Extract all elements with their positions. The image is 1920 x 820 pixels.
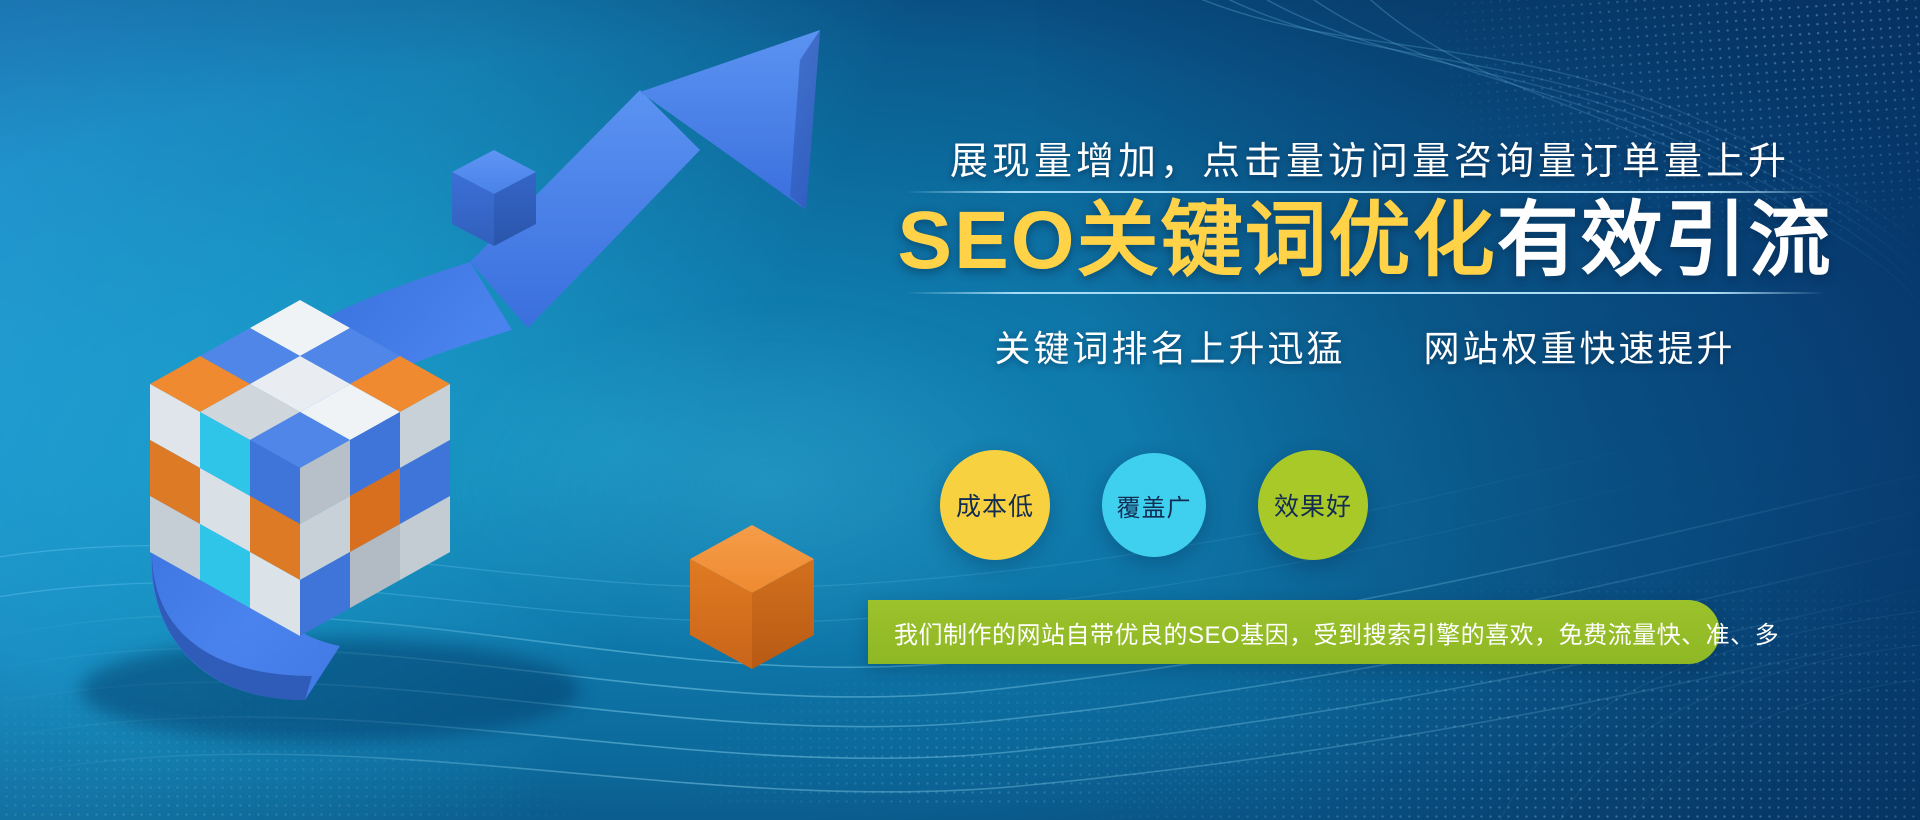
badge-effect-good[interactable]: 效果好 bbox=[1258, 450, 1368, 560]
badge-label: 效果好 bbox=[1274, 487, 1352, 523]
badge-label: 覆盖广 bbox=[1117, 488, 1192, 523]
badge-label: 成本低 bbox=[956, 487, 1034, 523]
banner-copy: 展现量增加，点击量访问量咨询量订单量上升 SEO关键词优化有效引流 关键词排名上… bbox=[860, 130, 1870, 730]
ribbon-container: 我们制作的网站自带优良的SEO基因，受到搜索引擎的喜欢，免费流量快、准、多 bbox=[790, 600, 1800, 664]
badge-coverage-wide[interactable]: 覆盖广 bbox=[1102, 453, 1206, 557]
subline-left: 关键词排名上升迅猛 bbox=[994, 328, 1345, 369]
divider-rule bbox=[905, 191, 1825, 193]
seo-promo-banner: 展现量增加，点击量访问量咨询量订单量上升 SEO关键词优化有效引流 关键词排名上… bbox=[0, 0, 1920, 820]
headline-rest: 有效引流 bbox=[1497, 195, 1833, 286]
green-ribbon-banner: 我们制作的网站自带优良的SEO基因，受到搜索引擎的喜欢，免费流量快、准、多 bbox=[868, 600, 1720, 664]
banner-subline: 关键词排名上升迅猛 网站权重快速提升 bbox=[860, 320, 1870, 372]
headline-highlight: SEO关键词优化 bbox=[897, 195, 1496, 286]
banner-tagline: 展现量增加，点击量访问量咨询量订单量上升 bbox=[860, 130, 1870, 185]
feature-badges: 成本低 覆盖广 效果好 bbox=[940, 440, 1580, 570]
ribbon-text: 我们制作的网站自带优良的SEO基因，受到搜索引擎的喜欢，免费流量快、准、多 bbox=[868, 615, 1779, 650]
badge-cost-low[interactable]: 成本低 bbox=[940, 450, 1050, 560]
banner-headline: SEO关键词优化有效引流 bbox=[860, 197, 1870, 286]
divider-rule-lower bbox=[905, 292, 1825, 294]
subline-right: 网站权重快速提升 bbox=[1424, 328, 1736, 369]
seo-growth-illustration bbox=[0, 0, 880, 820]
